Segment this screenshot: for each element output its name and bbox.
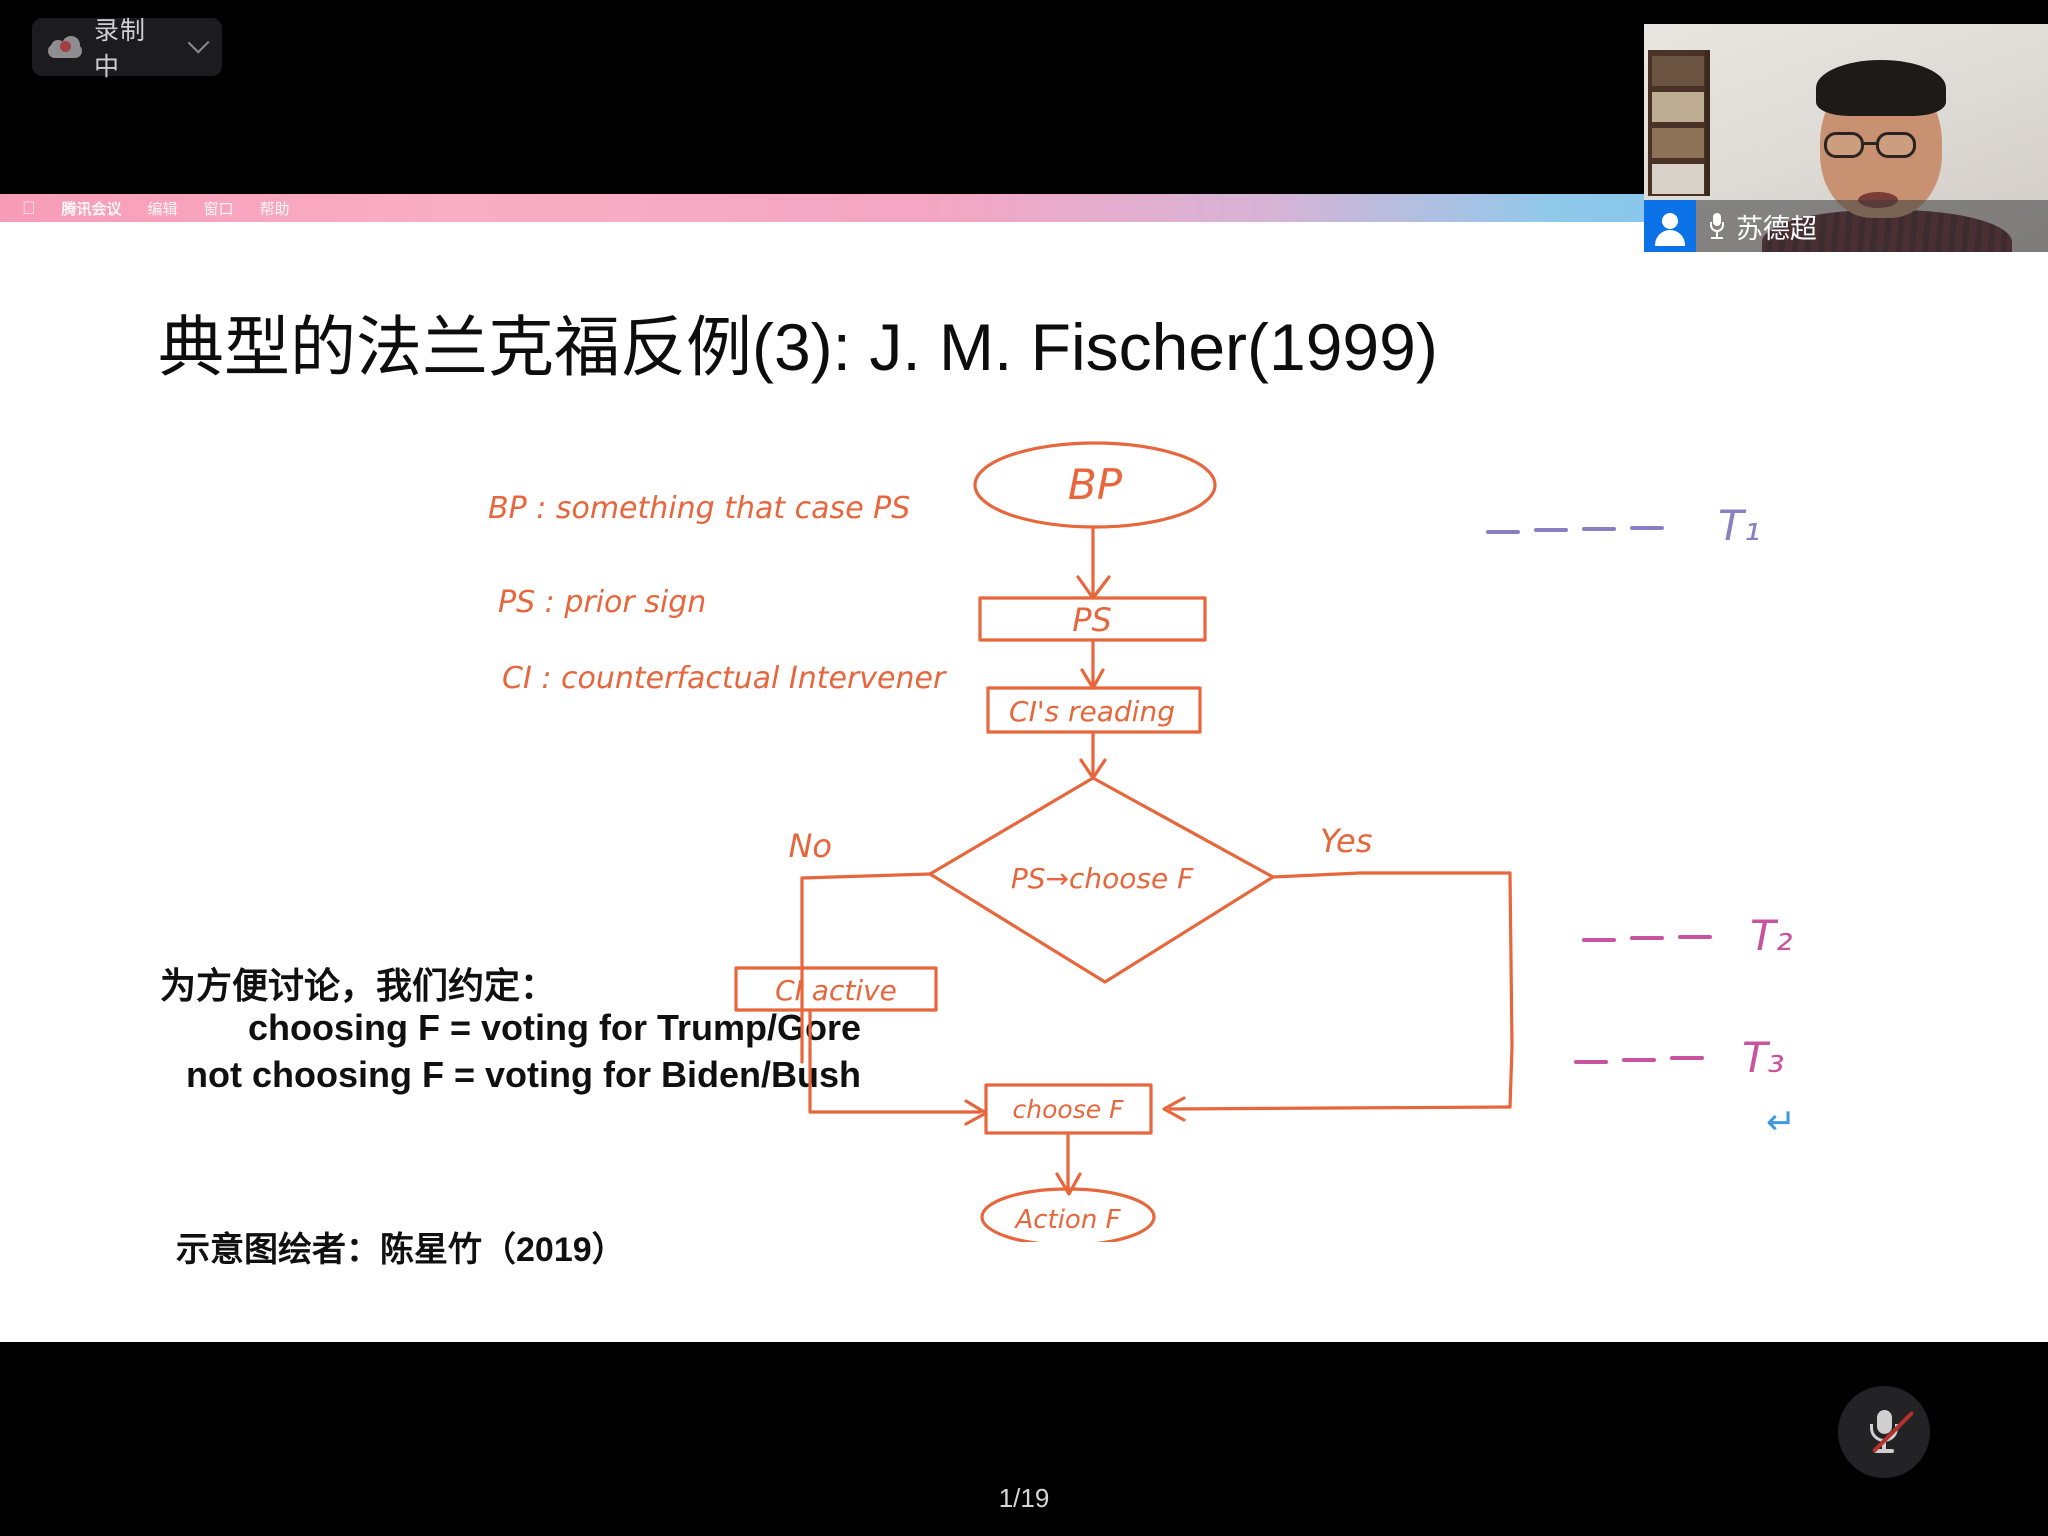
recording-label: 录制中 [94, 11, 169, 83]
edge-label-yes: Yes [1320, 822, 1372, 860]
mute-toggle-button[interactable] [1838, 1386, 1930, 1478]
bookshelf [1648, 50, 1710, 196]
node-decision-label: PS→choose F [1011, 862, 1194, 895]
return-cursor-icon: ↵ [1766, 1102, 1796, 1143]
glasses-bridge [1864, 142, 1876, 145]
node-action-f: Action F [982, 1189, 1154, 1242]
node-start: BP [975, 443, 1215, 527]
time-marker-t1 [1488, 528, 1662, 532]
node-ci-active: CI active [736, 968, 936, 1010]
legend-line-ci: CI : counterfactual Intervener [502, 661, 947, 696]
page-indicator: 1/19 [999, 1483, 1050, 1514]
time-marker-t3-label: T₃ [1742, 1033, 1785, 1082]
participant-hair [1816, 60, 1946, 116]
node-ci-active-label: CI active [775, 974, 897, 1007]
node-ps: PS [980, 598, 1205, 640]
node-action-f-label: Action F [1013, 1205, 1121, 1235]
apple-logo-icon[interactable]:  [22, 199, 36, 217]
node-decision: PS→choose F [930, 778, 1273, 982]
node-ci-reading-label: CI's reading [1009, 695, 1175, 728]
node-choose-f: choose F [986, 1085, 1151, 1133]
menu-item-app[interactable]: 腾讯会议 [62, 198, 122, 219]
time-marker-t2 [1584, 937, 1710, 940]
glasses-right-lens [1876, 132, 1916, 158]
presentation-slide: 典型的法兰克福反例(3): J. M. Fischer(1999) 为方便讨论，… [0, 222, 2048, 1342]
legend-line-ps: PS : prior sign [498, 585, 706, 620]
time-marker-t2-label: T₂ [1750, 911, 1793, 960]
microphone-icon [1710, 213, 1724, 239]
edge-label-no: No [788, 827, 832, 865]
glasses-left-lens [1824, 132, 1864, 158]
time-marker-t1-label: T₁ [1718, 501, 1761, 550]
participant-video-tile[interactable]: 苏德超 [1644, 24, 2048, 252]
participant-name-bar: 苏德超 [1644, 200, 2048, 252]
legend-line-bp: BP : something that case PS [488, 491, 910, 526]
time-marker-t3 [1576, 1058, 1702, 1062]
flowchart-diagram: BP : something that case PS PS : prior s… [480, 422, 1980, 1242]
cloud-recording-icon [48, 36, 82, 58]
recording-badge[interactable]: 录制中 [32, 18, 222, 76]
menu-item-edit[interactable]: 编辑 [148, 198, 178, 219]
node-start-label: BP [1068, 460, 1123, 509]
node-ci-reading: CI's reading [988, 688, 1200, 732]
menu-item-window[interactable]: 窗口 [204, 198, 234, 219]
node-ps-label: PS [1072, 601, 1112, 639]
screen-root: 录制中  腾讯会议 编辑 窗口 帮助 A 典型的法兰克福反例(3): J. M… [0, 0, 2048, 1536]
page-title: 典型的法兰克福反例(3): J. M. Fischer(1999) [158, 294, 1438, 390]
legend-handwriting: BP : something that case PS PS : prior s… [488, 491, 947, 696]
person-avatar-icon [1644, 200, 1696, 252]
participant-name: 苏德超 [1736, 207, 1817, 246]
node-choose-f-label: choose F [1013, 1095, 1125, 1124]
bottom-bar: 1/19 [0, 1342, 2048, 1536]
chevron-down-icon[interactable] [187, 32, 209, 54]
microphone-muted-icon [1869, 1410, 1899, 1454]
menu-item-help[interactable]: 帮助 [260, 198, 290, 219]
